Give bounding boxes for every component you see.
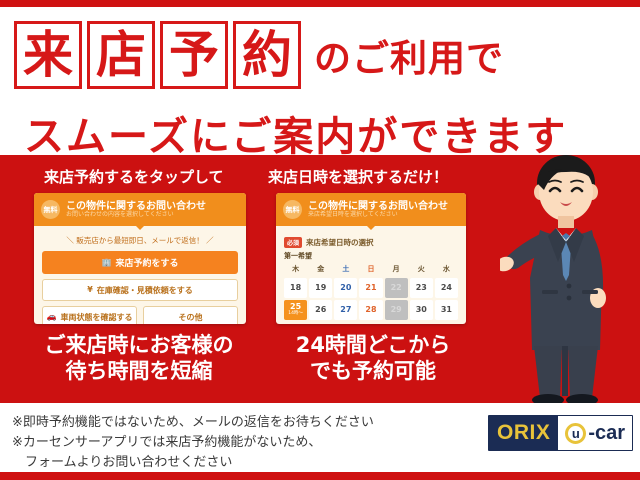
- calendar-day-number: 22: [391, 284, 402, 292]
- mock-body: ＼ 販売店から最短即日、メールで返信！ ／ 🏢 来店予約をする ¥ 在庫確認・見…: [34, 226, 246, 324]
- calendar-day-22: 22: [385, 278, 408, 298]
- right-panel-heading: 来店日時を選択するだけ！: [268, 166, 448, 187]
- other-button[interactable]: その他: [143, 306, 238, 324]
- calendar-header-text: この物件に関するお問い合わせ 来店希望日時を選択してください: [308, 201, 448, 219]
- calendar-dow-火: 火: [410, 264, 433, 276]
- top-rule: [0, 0, 640, 7]
- kanji-box-3: 予: [160, 21, 228, 89]
- calendar-day-number: 19: [315, 284, 326, 292]
- calendar-dow-木: 木: [284, 264, 307, 276]
- calendar-title-row: 必須 来店希望日時の選択: [284, 237, 458, 248]
- orix-wordmark: ORIX: [489, 416, 558, 450]
- calendar-dow-土: 土: [334, 264, 357, 276]
- notch-arrow: [136, 226, 144, 230]
- businessman-illustration: [500, 150, 630, 408]
- orix-ucar-logo: ORIX u -car: [488, 415, 633, 451]
- calendar-day-number: 31: [441, 306, 452, 314]
- calendar-header-subtitle: 来店希望日時を選択してください: [308, 212, 448, 219]
- footer-notes: ※即時予約機能ではないため、メールの返信をお待ちください ※カーセンサーアプリで…: [12, 413, 462, 472]
- left-panel-heading: 来店予約するをタップして: [44, 166, 224, 187]
- calendar-dow-水: 水: [435, 264, 458, 276]
- u-circle-icon: u: [565, 423, 586, 444]
- notch-arrow: [367, 226, 375, 230]
- left-caption-line1: ご来店時にお客様の: [10, 332, 268, 358]
- calendar-day-number: 26: [315, 306, 326, 314]
- vehicle-condition-button[interactable]: 🚗 車両状態を確認する: [42, 306, 137, 324]
- footer-note-1: ※即時予約機能ではないため、メールの返信をお待ちください: [12, 413, 462, 433]
- calendar-day-28[interactable]: 28: [359, 300, 382, 320]
- calendar-day-30[interactable]: 30: [410, 300, 433, 320]
- calendar-day-number: 30: [416, 306, 427, 314]
- mock-header-subtitle: お問い合わせの内容を選択してください: [66, 212, 206, 219]
- other-label: その他: [179, 312, 203, 323]
- calendar-day-number: 28: [365, 306, 376, 314]
- right-caption-line2: でも予約可能: [268, 358, 478, 384]
- stock-quote-label: 在庫確認・見積依頼をする: [97, 285, 193, 296]
- calendar-day-25[interactable]: 2514時～: [284, 300, 307, 320]
- footer-block: ※即時予約機能ではないため、メールの返信をお待ちください ※カーセンサーアプリで…: [0, 403, 640, 472]
- calendar-day-number: 18: [290, 284, 301, 292]
- calendar-day-number: 20: [340, 284, 351, 292]
- mock-header-text: この物件に関するお問い合わせ お問い合わせの内容を選択してください: [66, 201, 206, 219]
- kanji-box-2: 店: [87, 21, 155, 89]
- calendar-day-29: 29: [385, 300, 408, 320]
- yen-icon: ¥: [87, 286, 93, 294]
- kanji-box-1: 来: [14, 21, 82, 89]
- mock-button-row: 🚗 車両状態を確認する その他: [42, 306, 238, 324]
- calendar-day-20[interactable]: 20: [334, 278, 357, 298]
- store-icon: 🏢: [102, 259, 112, 267]
- headline-block: 来 店 予 約 のご利用で スムーズにご案内ができます: [0, 7, 640, 155]
- headline-row-1: 来 店 予 約 のご利用で: [14, 21, 504, 89]
- stock-quote-button[interactable]: ¥ 在庫確認・見積依頼をする: [42, 279, 238, 301]
- left-caption-line2: 待ち時間を短縮: [10, 358, 268, 384]
- calendar-day-19[interactable]: 19: [309, 278, 332, 298]
- calendar-day-21[interactable]: 21: [359, 278, 382, 298]
- calendar-day-number: 29: [391, 306, 402, 314]
- right-caption-line1: 24時間どこから: [268, 332, 478, 358]
- free-badge: 無料: [283, 200, 302, 219]
- calendar-mockup: 無料 この物件に関するお問い合わせ 来店希望日時を選択してください 必須 来店希…: [276, 193, 466, 324]
- reserve-visit-button[interactable]: 🏢 来店予約をする: [42, 251, 238, 274]
- footer-note-3: フォームよりお問い合わせください: [12, 453, 462, 473]
- calendar-day-time: 14時～: [288, 312, 303, 317]
- calendar-body: 必須 来店希望日時の選択 第一希望 木金土日月火水181920212223242…: [276, 226, 466, 320]
- car-icon: 🚗: [47, 313, 57, 321]
- calendar-day-number: 27: [340, 306, 351, 314]
- right-caption: 24時間どこから でも予約可能: [268, 332, 478, 385]
- kanji-box-4: 約: [233, 21, 301, 89]
- contact-form-mockup: 無料 この物件に関するお問い合わせ お問い合わせの内容を選択してください ＼ 販…: [34, 193, 246, 324]
- calendar-dow-月: 月: [385, 264, 408, 276]
- left-caption: ご来店時にお客様の 待ち時間を短縮: [10, 332, 268, 385]
- calendar-day-number: 23: [416, 284, 427, 292]
- ucar-wordmark: u -car: [558, 416, 632, 450]
- mock-header-bar: 無料 この物件に関するお問い合わせ お問い合わせの内容を選択してください: [34, 193, 246, 226]
- calendar-subtitle: 第一希望: [284, 251, 458, 261]
- reserve-visit-label: 来店予約をする: [115, 256, 178, 269]
- calendar-dow-金: 金: [309, 264, 332, 276]
- promo-text: ＼ 販売店から最短即日、メールで返信！ ／: [42, 235, 238, 246]
- calendar-day-23[interactable]: 23: [410, 278, 433, 298]
- calendar-day-18[interactable]: 18: [284, 278, 307, 298]
- calendar-day-number: 24: [441, 284, 452, 292]
- calendar-title: 来店希望日時の選択: [306, 237, 374, 248]
- calendar-day-number: 21: [365, 284, 376, 292]
- calendar-dow-日: 日: [359, 264, 382, 276]
- vehicle-condition-label: 車両状態を確認する: [60, 312, 132, 323]
- calendar-day-31[interactable]: 31: [435, 300, 458, 320]
- headline-tail: のご利用で: [314, 28, 504, 82]
- calendar-header-bar: 無料 この物件に関するお問い合わせ 来店希望日時を選択してください: [276, 193, 466, 226]
- free-badge: 無料: [41, 200, 60, 219]
- calendar-day-24[interactable]: 24: [435, 278, 458, 298]
- ad-banner: 来 店 予 約 のご利用で スムーズにご案内ができます 来店予約するをタップして…: [0, 0, 640, 480]
- footer-note-2: ※カーセンサーアプリでは来店予約機能がないため、: [12, 433, 462, 453]
- bottom-rule: [0, 472, 640, 480]
- car-text: -car: [588, 422, 625, 445]
- calendar-grid: 木金土日月火水181920212223242514時～262728293031: [284, 264, 458, 320]
- calendar-day-26[interactable]: 26: [309, 300, 332, 320]
- calendar-day-27[interactable]: 27: [334, 300, 357, 320]
- required-badge: 必須: [284, 237, 302, 248]
